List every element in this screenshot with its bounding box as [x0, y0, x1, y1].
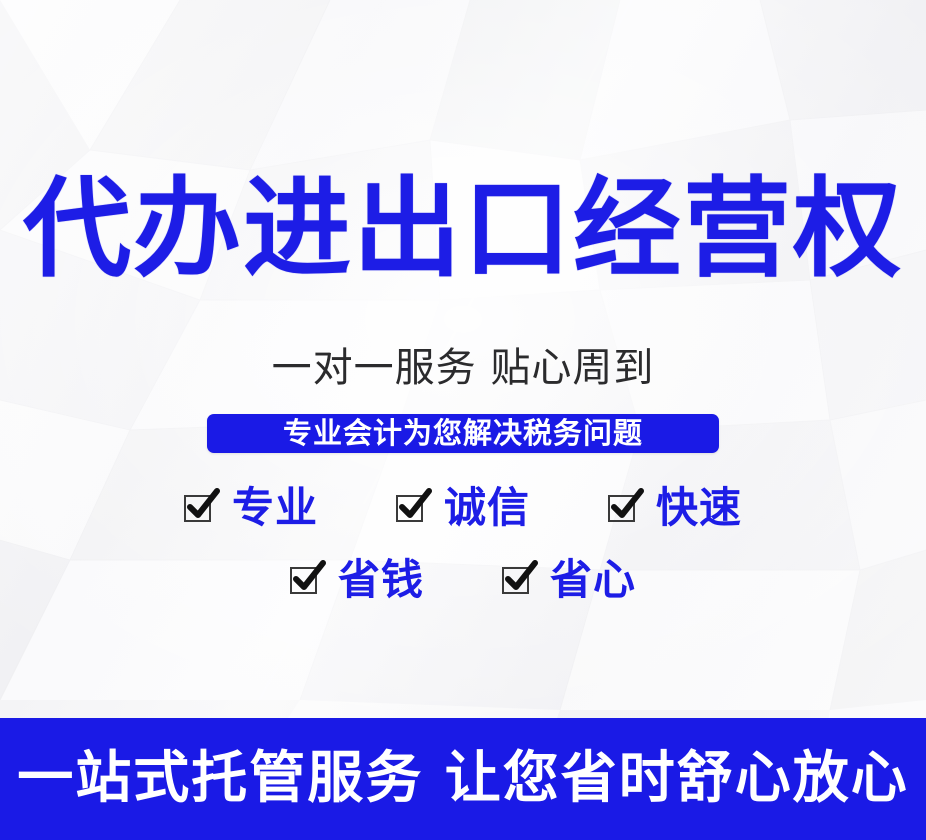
bottom-banner-text: 一站式托管服务 让您省时舒心放心: [17, 747, 909, 811]
promo-poster: 代办进出口经营权 一对一服务 贴心周到 专业会计为您解决税务问题 专业: [0, 0, 926, 840]
feature-label: 省心: [550, 557, 636, 603]
feature-label: 快速: [656, 485, 742, 531]
page-title: 代办进出口经营权: [0, 172, 926, 288]
pill-banner-wrap: 专业会计为您解决税务问题: [0, 414, 926, 453]
feature-label: 诚信: [444, 485, 530, 531]
feature-item-integrity: 诚信: [396, 485, 530, 531]
feature-list: 专业 诚信: [0, 485, 926, 603]
subtitle: 一对一服务 贴心周到: [0, 344, 926, 392]
feature-item-fast: 快速: [608, 485, 742, 531]
bottom-banner: 一站式托管服务 让您省时舒心放心: [0, 718, 926, 840]
feature-row-1: 专业 诚信: [0, 485, 926, 531]
poster-content: 代办进出口经营权 一对一服务 贴心周到 专业会计为您解决税务问题 专业: [0, 0, 926, 840]
feature-label: 专业: [232, 485, 318, 531]
feature-item-worry-free: 省心: [502, 557, 636, 603]
highlight-banner: 专业会计为您解决税务问题: [207, 414, 719, 453]
checkbox-checked-icon: [184, 490, 220, 526]
feature-item-save-money: 省钱: [290, 557, 424, 603]
checkbox-checked-icon: [608, 490, 644, 526]
feature-label: 省钱: [338, 557, 424, 603]
checkbox-checked-icon: [290, 562, 326, 598]
checkbox-checked-icon: [502, 562, 538, 598]
checkbox-checked-icon: [396, 490, 432, 526]
feature-item-professional: 专业: [184, 485, 318, 531]
feature-row-2: 省钱 省心: [0, 557, 926, 603]
